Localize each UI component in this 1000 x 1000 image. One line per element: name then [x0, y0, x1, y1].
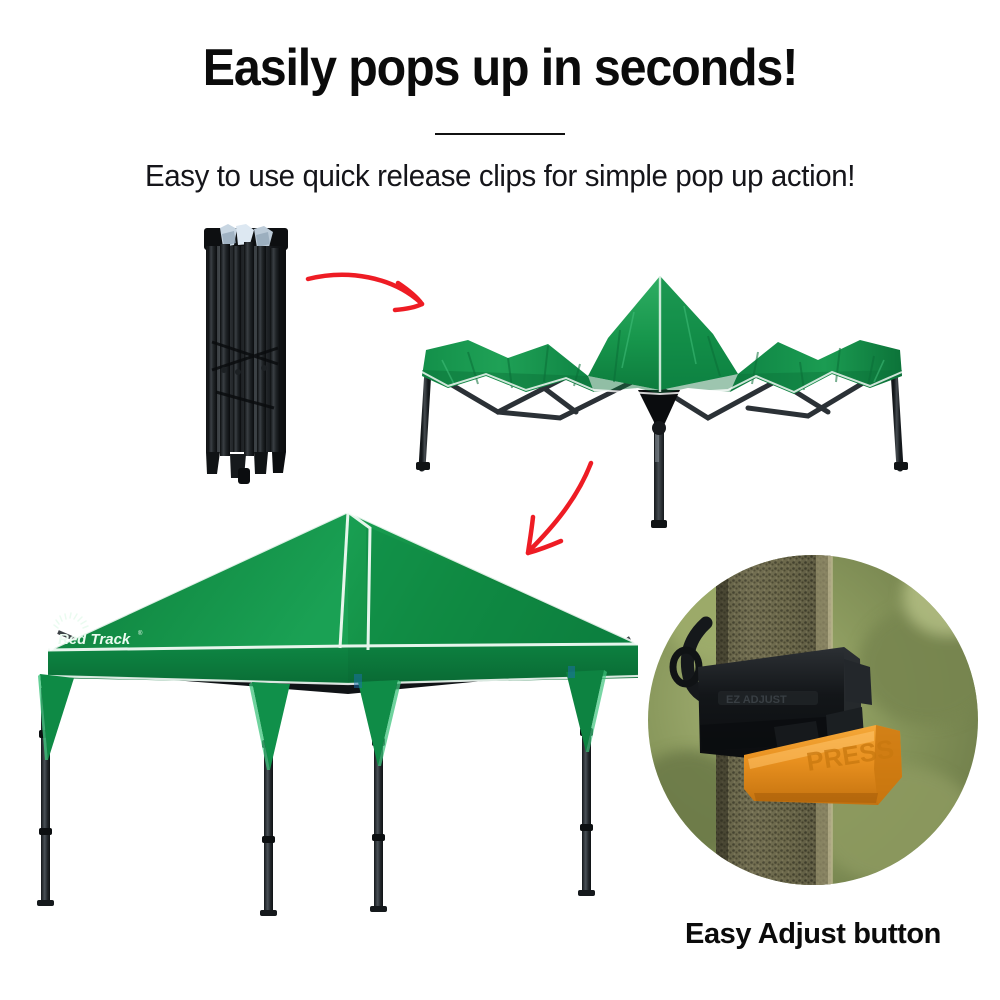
title-divider: [435, 133, 565, 135]
inset-caption: Easy Adjust button: [628, 918, 998, 951]
page-title: Easily pops up in seconds!: [35, 38, 965, 98]
infographic-canvas: Easily pops up in seconds! Easy to use q…: [0, 0, 1000, 1000]
sunburst-icon: [54, 613, 88, 628]
canopy-legs: [37, 686, 595, 916]
half-open-canopy-image: [408, 272, 914, 530]
folded-frame-image: [186, 222, 306, 484]
brand-logo: Red Track ®: [52, 612, 152, 652]
svg-text:®: ®: [138, 630, 143, 637]
open-canopy-image: [18, 498, 658, 918]
brand-name-text: Red Track: [58, 631, 131, 648]
easy-adjust-button-photo: EZ ADJUST PRESS: [648, 555, 978, 885]
svg-text:EZ ADJUST: EZ ADJUST: [726, 694, 787, 706]
page-subtitle: Easy to use quick release clips for simp…: [25, 158, 975, 194]
